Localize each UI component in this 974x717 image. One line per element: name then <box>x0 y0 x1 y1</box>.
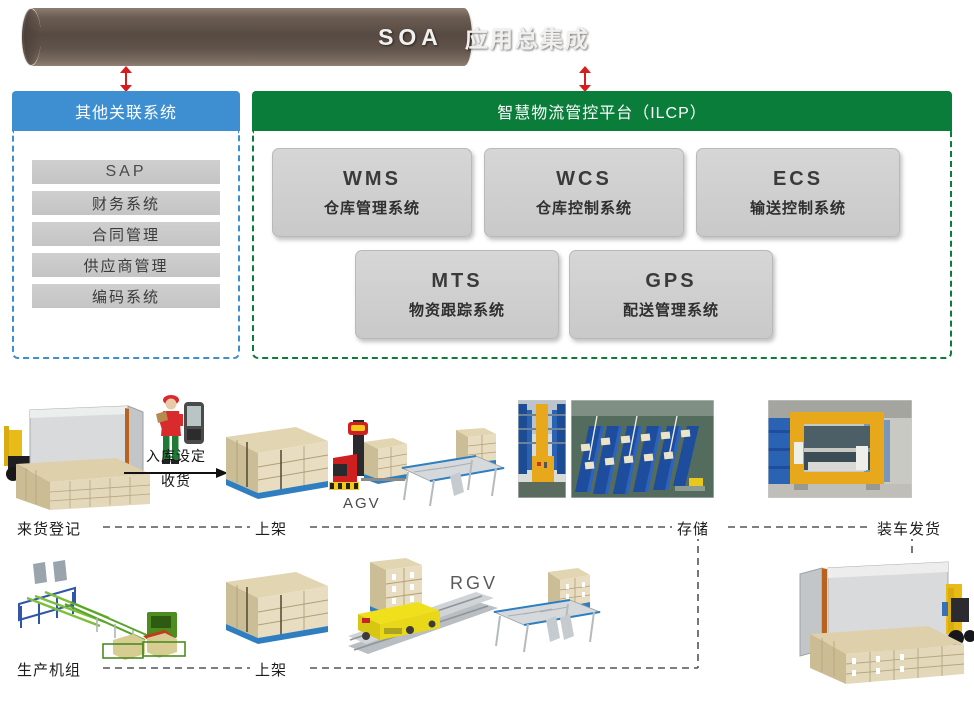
production-line-illustration <box>5 558 201 666</box>
stage-label-production: 生产机组 <box>14 659 84 680</box>
card-wcs-code: WCS <box>556 168 612 191</box>
stage-label-receiving: 来货登记 <box>14 518 84 539</box>
stage-label-putaway-bottom: 上架 <box>252 659 290 680</box>
other-systems-header: 其他关联系统 <box>12 91 240 131</box>
card-mts-name: 物资跟踪系统 <box>409 299 505 320</box>
stage-label-storage: 存储 <box>674 518 712 539</box>
stage-label-shipping: 装车发货 <box>874 518 944 539</box>
list-item-supplier[interactable]: 供应商管理 <box>32 253 220 277</box>
process-flow: 入库设定 收货 <box>0 378 974 717</box>
arrow-head-up-icon <box>579 66 591 73</box>
card-ecs-name: 输送控制系统 <box>750 197 846 218</box>
photo-stacker-crane <box>768 400 912 498</box>
card-gps[interactable]: GPS 配送管理系统 <box>569 250 773 339</box>
pipe-end-cap-icon <box>21 8 41 66</box>
card-wms-name: 仓库管理系统 <box>324 197 420 218</box>
list-item-finance[interactable]: 财务系统 <box>32 191 220 215</box>
list-item-contract[interactable]: 合同管理 <box>32 222 220 246</box>
diagram-root: SOA 应用总集成 其他关联系统 SAP 财务系统 合同管理 供应商管理 编码系… <box>0 0 974 717</box>
card-wms-code: WMS <box>343 168 401 191</box>
conveyor-illustration-2 <box>490 568 610 654</box>
soa-pipe: SOA 应用总集成 <box>22 8 952 66</box>
soa-title-cn: 应用总集成 <box>465 20 590 54</box>
card-wcs-name: 仓库控制系统 <box>536 197 632 218</box>
card-wcs[interactable]: WCS 仓库控制系统 <box>484 148 684 237</box>
connector-arrow-left <box>119 66 133 92</box>
card-ecs[interactable]: ECS 输送控制系统 <box>696 148 900 237</box>
inbound-arrow-caption-top: 入库设定 <box>124 448 228 464</box>
truck-loading-illustration <box>796 558 974 693</box>
soa-pipe-title: SOA 应用总集成 <box>258 8 710 66</box>
connector-arrow-right <box>578 66 592 92</box>
list-item-sap[interactable]: SAP <box>32 160 220 184</box>
photo-warehouse-racks <box>571 400 714 498</box>
pallet-stack-illustration-2 <box>222 568 332 648</box>
photo-agv-aisle <box>518 400 566 498</box>
inbound-arrow-caption-bottom: 收货 <box>124 473 228 489</box>
arrow-head-up-icon <box>120 66 132 73</box>
card-mts-code: MTS <box>431 270 482 293</box>
card-gps-name: 配送管理系统 <box>623 299 719 320</box>
conveyor-illustration-1 <box>398 428 508 508</box>
other-systems-list: SAP 财务系统 合同管理 供应商管理 编码系统 <box>32 160 220 315</box>
card-gps-code: GPS <box>645 270 696 293</box>
agv-label: AGV <box>343 495 381 512</box>
card-ecs-code: ECS <box>773 168 823 191</box>
stage-label-putaway-top: 上架 <box>252 518 290 539</box>
ilcp-platform-header: 智慧物流管控平台（ILCP） <box>252 91 952 131</box>
card-wms[interactable]: WMS 仓库管理系统 <box>272 148 472 237</box>
card-mts[interactable]: MTS 物资跟踪系统 <box>355 250 559 339</box>
soa-title-latin: SOA <box>378 24 443 51</box>
list-item-coding[interactable]: 编码系统 <box>32 284 220 308</box>
pallet-stack-illustration-1 <box>222 423 332 503</box>
